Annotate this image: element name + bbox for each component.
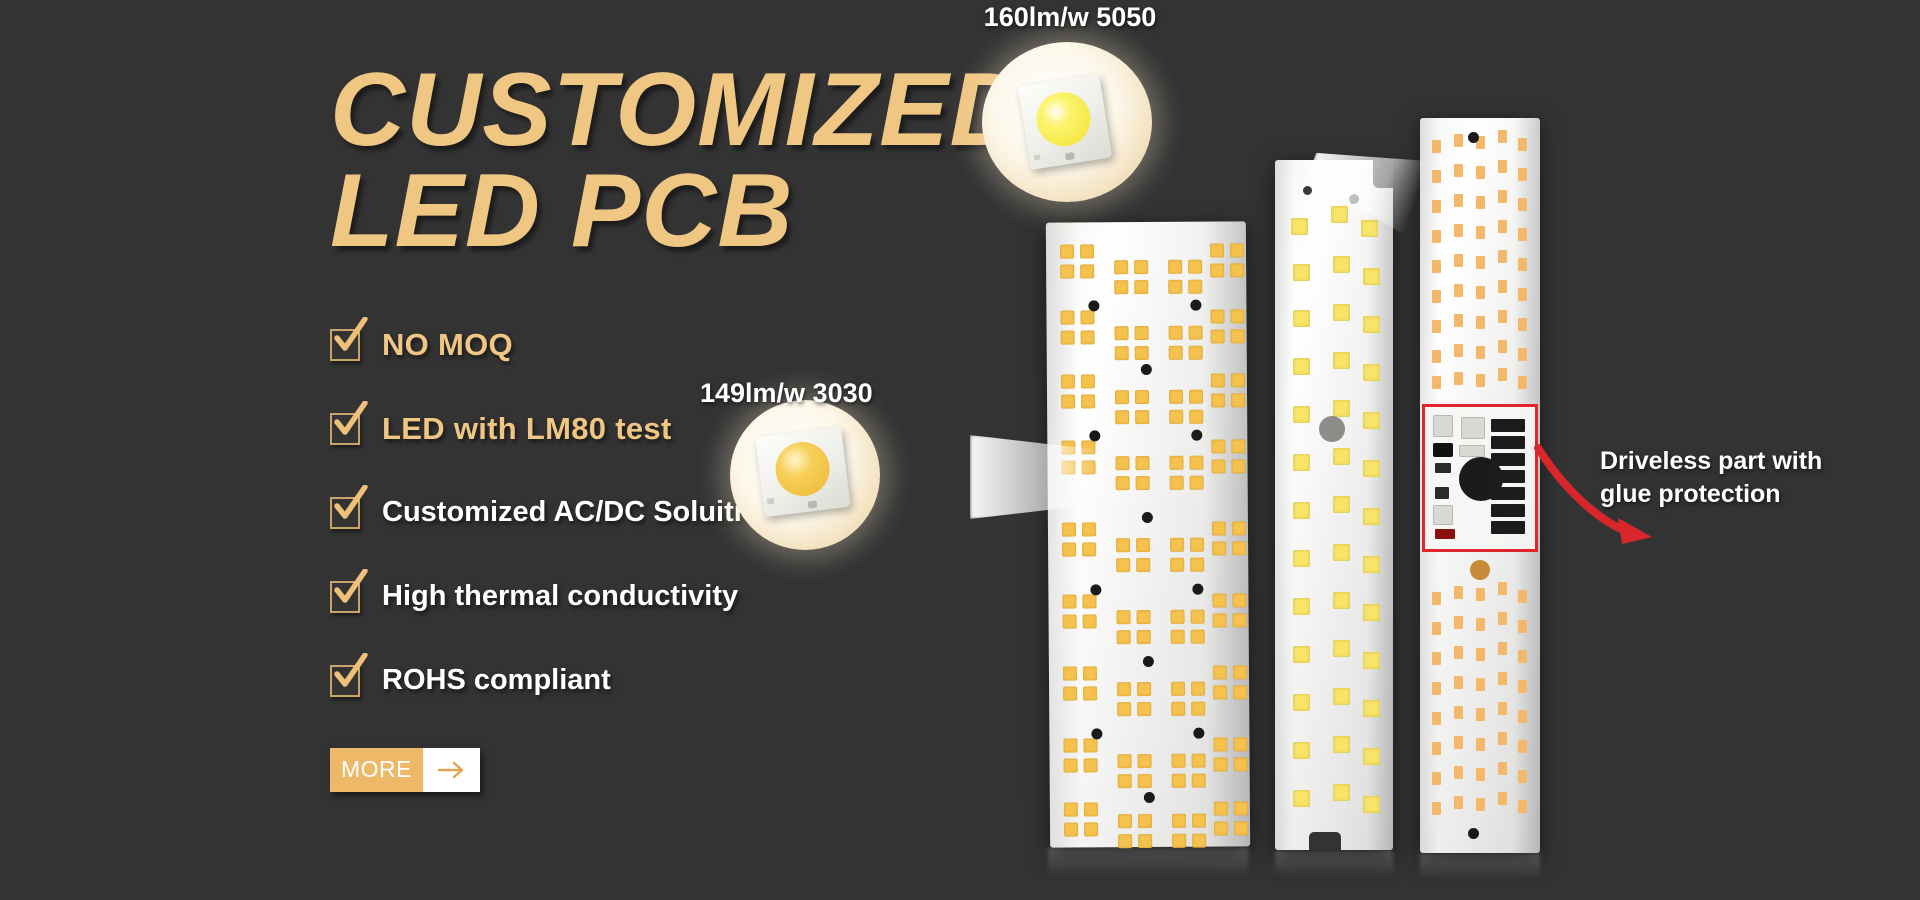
led-cluster <box>1115 456 1149 490</box>
led-cluster <box>1171 682 1205 716</box>
led-5050 <box>1363 556 1380 573</box>
led-cluster <box>1172 754 1206 788</box>
led-cluster <box>1118 754 1152 788</box>
more-button-label: MORE <box>330 748 423 792</box>
arrow-right-icon <box>423 748 480 792</box>
led-5050 <box>1333 544 1350 561</box>
led-5050 <box>1293 310 1310 327</box>
callout-led-3030 <box>730 400 880 550</box>
via-hole <box>1089 430 1100 441</box>
via-hole <box>1143 656 1154 667</box>
led-5050 <box>1363 604 1380 621</box>
page-title: CUSTOMIZED LED PCB <box>330 60 1090 262</box>
led-5050 <box>1361 220 1378 237</box>
mount-hole <box>1468 828 1479 839</box>
led-cluster <box>1169 456 1203 490</box>
via-hole <box>1144 792 1155 803</box>
led-5050 <box>1333 736 1350 753</box>
led-5050 <box>1333 352 1350 369</box>
led-cluster <box>1211 439 1245 473</box>
via-hole <box>1088 300 1099 311</box>
led-5050 <box>1333 400 1350 417</box>
more-button[interactable]: MORE <box>330 748 480 792</box>
led-cluster <box>1062 522 1096 556</box>
led-5050 <box>1333 304 1350 321</box>
led-5050 <box>1333 784 1350 801</box>
via-hole <box>1192 584 1203 595</box>
led-5050 <box>1363 748 1380 765</box>
led-cluster <box>1168 260 1202 294</box>
copy-block: CUSTOMIZED LED PCB NO MOQ LED with LM8 <box>330 60 1090 792</box>
led-cluster <box>1062 594 1096 628</box>
mount-hole <box>1319 416 1345 442</box>
checkbox-checked-icon <box>330 497 360 529</box>
via-hole <box>1191 430 1202 441</box>
led-5050 <box>1363 508 1380 525</box>
led-cluster <box>1213 665 1247 699</box>
feature-item-rohs: ROHS compliant <box>330 650 1090 712</box>
led-cluster <box>1063 738 1097 772</box>
led-5050 <box>1363 460 1380 477</box>
led-5050 <box>1293 454 1310 471</box>
board-reflection <box>1048 847 1248 887</box>
via-hole <box>1193 728 1204 739</box>
led-5050 <box>1291 218 1308 235</box>
led-chip-3030 <box>755 427 850 517</box>
led-cluster <box>1210 243 1244 277</box>
feature-item-no-moq: NO MOQ <box>330 314 1090 376</box>
led-5050 <box>1333 592 1350 609</box>
led-5050 <box>1333 448 1350 465</box>
checkbox-checked-icon <box>330 329 360 361</box>
led-5050 <box>1293 790 1310 807</box>
led-cluster <box>1114 260 1148 294</box>
led-cluster <box>1115 390 1149 424</box>
led-5050 <box>1331 206 1348 223</box>
pcb-board-5050[interactable] <box>1275 160 1393 850</box>
led-5050 <box>1363 796 1380 813</box>
led-cluster <box>1169 326 1203 360</box>
annotation-line-1: Driveless part with <box>1600 445 1822 478</box>
led-cluster <box>1061 374 1095 408</box>
check-tick-icon <box>334 569 368 607</box>
callout-led-5050 <box>982 42 1152 202</box>
led-cluster <box>1063 666 1097 700</box>
led-cluster <box>1169 390 1203 424</box>
feature-label: High thermal conductivity <box>382 580 738 613</box>
led-chip-5050 <box>1018 74 1112 170</box>
led-5050 <box>1293 264 1310 281</box>
led-5050 <box>1333 256 1350 273</box>
led-cluster <box>1212 593 1246 627</box>
feature-label: NO MOQ <box>382 327 513 363</box>
via-hole <box>1091 728 1102 739</box>
led-pcb-banner: CUSTOMIZED LED PCB NO MOQ LED with LM8 <box>0 0 1920 900</box>
led-5050 <box>1363 700 1380 717</box>
mount-hole <box>1468 132 1479 143</box>
via-hole <box>1141 364 1152 375</box>
led-5050 <box>1363 364 1380 381</box>
check-tick-icon <box>334 401 368 439</box>
checkbox-checked-icon <box>330 413 360 445</box>
board-reflection <box>1420 853 1540 889</box>
callout-label-5050: 160lm/w 5050 <box>980 2 1160 33</box>
via-hole <box>1090 584 1101 595</box>
led-5050 <box>1293 646 1310 663</box>
checkbox-checked-icon <box>330 581 360 613</box>
led-5050 <box>1363 652 1380 669</box>
headline-line-2: LED PCB <box>330 161 1090 262</box>
pcb-board-3030[interactable] <box>1046 221 1250 847</box>
via-hole <box>1190 300 1201 311</box>
led-5050 <box>1293 598 1310 615</box>
check-tick-icon <box>334 653 368 691</box>
led-cluster <box>1171 610 1205 644</box>
checkbox-checked-icon <box>330 665 360 697</box>
led-cluster <box>1213 737 1247 771</box>
led-5050 <box>1333 688 1350 705</box>
check-tick-icon <box>334 485 368 523</box>
check-tick-icon <box>334 317 368 355</box>
feature-label: ROHS compliant <box>382 664 611 697</box>
led-5050 <box>1363 412 1380 429</box>
board-reflection <box>1275 850 1393 886</box>
led-5050 <box>1333 640 1350 657</box>
via-hole <box>1142 512 1153 523</box>
led-cluster <box>1214 801 1248 835</box>
feature-label: LED with LM80 test <box>382 411 672 447</box>
headline-line-1: CUSTOMIZED <box>330 52 1026 168</box>
led-cluster <box>1211 373 1245 407</box>
led-5050 <box>1293 502 1310 519</box>
led-5050 <box>1363 268 1380 285</box>
screw-terminal <box>1470 560 1490 580</box>
led-5050 <box>1293 406 1310 423</box>
led-5050 <box>1293 550 1310 567</box>
led-cluster <box>1115 326 1149 360</box>
feature-item-thermal: High thermal conductivity <box>330 566 1090 628</box>
annotation-line-2: glue protection <box>1600 478 1822 511</box>
led-cluster <box>1117 610 1151 644</box>
led-cluster <box>1118 814 1152 848</box>
led-cluster <box>1210 309 1244 343</box>
led-cluster <box>1212 521 1246 555</box>
led-cluster <box>1060 310 1094 344</box>
led-5050 <box>1293 358 1310 375</box>
mount-hole <box>1303 186 1312 195</box>
callout-label-3030: 149lm/w 3030 <box>700 378 873 409</box>
led-cluster <box>1060 244 1094 278</box>
led-cluster <box>1172 814 1206 848</box>
led-cluster <box>1064 802 1098 836</box>
led-cluster <box>1116 538 1150 572</box>
led-5050 <box>1293 742 1310 759</box>
led-5050 <box>1363 316 1380 333</box>
product-photo-group: 160lm/w 5050 149lm/w 3030 Driveless part… <box>1020 0 1920 900</box>
led-5050 <box>1333 496 1350 513</box>
led-cluster <box>1117 682 1151 716</box>
led-cluster <box>1170 538 1204 572</box>
driverless-annotation: Driveless part with glue protection <box>1600 445 1822 511</box>
led-5050 <box>1293 694 1310 711</box>
